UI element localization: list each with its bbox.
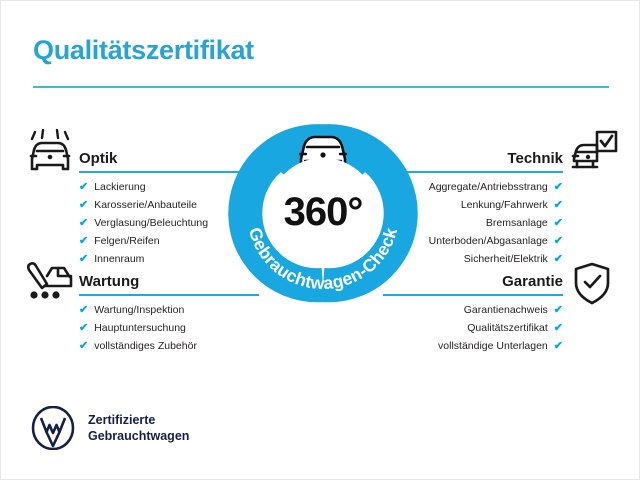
list-item-label: Felgen/Reifen [94, 236, 159, 247]
list-item-label: Unterboden/Abgasanlage [429, 236, 548, 247]
check-icon: ✔ [79, 200, 88, 211]
list-item-label: Wartung/Inspektion [94, 305, 184, 316]
list-item-label: Karosserie/Anbauteile [94, 200, 197, 211]
footer-text: Zertifizierte Gebrauchtwagen [88, 412, 189, 445]
check-icon: ✔ [554, 200, 563, 211]
page-title: Qualitätszertifikat [33, 35, 254, 66]
list-item-label: Innenraum [94, 254, 144, 265]
list-item-label: vollständige Unterlagen [438, 341, 548, 352]
badge-center-label: 360° [284, 190, 363, 234]
list-item: ✔Qualitätszertifikat [383, 323, 563, 334]
section-optik-title: Optik [79, 150, 117, 167]
check-icon: ✔ [79, 341, 88, 352]
list-item-label: Lackierung [94, 182, 145, 193]
list-item: ✔Hauptuntersuchung [79, 323, 259, 334]
list-item-label: Lenkung/Fahrwerk [461, 200, 548, 211]
list-item-label: vollständiges Zubehör [94, 341, 197, 352]
check-icon: ✔ [79, 236, 88, 247]
list-item: ✔vollständiges Zubehör [79, 341, 259, 352]
check-icon: ✔ [554, 218, 563, 229]
wrench-car-icon [25, 260, 75, 313]
check-icon: ✔ [79, 323, 88, 334]
check-icon: ✔ [554, 254, 563, 265]
check-icon: ✔ [79, 182, 88, 193]
check-icon: ✔ [79, 305, 88, 316]
footer-line-1: Zertifizierte [88, 412, 189, 429]
title-divider [33, 86, 609, 88]
section-technik-title: Technik [507, 150, 563, 167]
list-item-label: Bremsanlage [486, 218, 548, 229]
badge-360-gebrauchtwagen-check: Gebrauchtwagen-Check [223, 113, 423, 313]
section-garantie-title: Garantie [502, 273, 563, 290]
list-item-label: Aggregate/Antriebsstrang [429, 182, 548, 193]
check-icon: ✔ [79, 254, 88, 265]
check-icon: ✔ [79, 218, 88, 229]
check-icon: ✔ [554, 305, 563, 316]
list-item-label: Verglasung/Beleuchtung [94, 218, 208, 229]
footer-line-2: Gebrauchtwagen [88, 428, 189, 445]
list-item-label: Qualitätszertifikat [467, 323, 548, 334]
certificate-sheet: Qualitätszertifikat [0, 0, 640, 480]
car-checkbox-icon [569, 129, 619, 182]
list-item: ✔vollständige Unterlagen [383, 341, 563, 352]
check-icon: ✔ [554, 182, 563, 193]
check-icon: ✔ [554, 323, 563, 334]
list-item-label: Hauptuntersuchung [94, 323, 186, 334]
list-item-label: Garantienachweis [464, 305, 548, 316]
list-item-label: Sicherheit/Elektrik [464, 254, 548, 265]
section-wartung-title: Wartung [79, 273, 139, 290]
check-icon: ✔ [554, 341, 563, 352]
volkswagen-logo [31, 406, 75, 450]
check-icon: ✔ [554, 236, 563, 247]
footer: Zertifizierte Gebrauchtwagen [31, 406, 189, 450]
car-shine-icon [25, 129, 75, 182]
shield-check-icon [571, 261, 613, 312]
